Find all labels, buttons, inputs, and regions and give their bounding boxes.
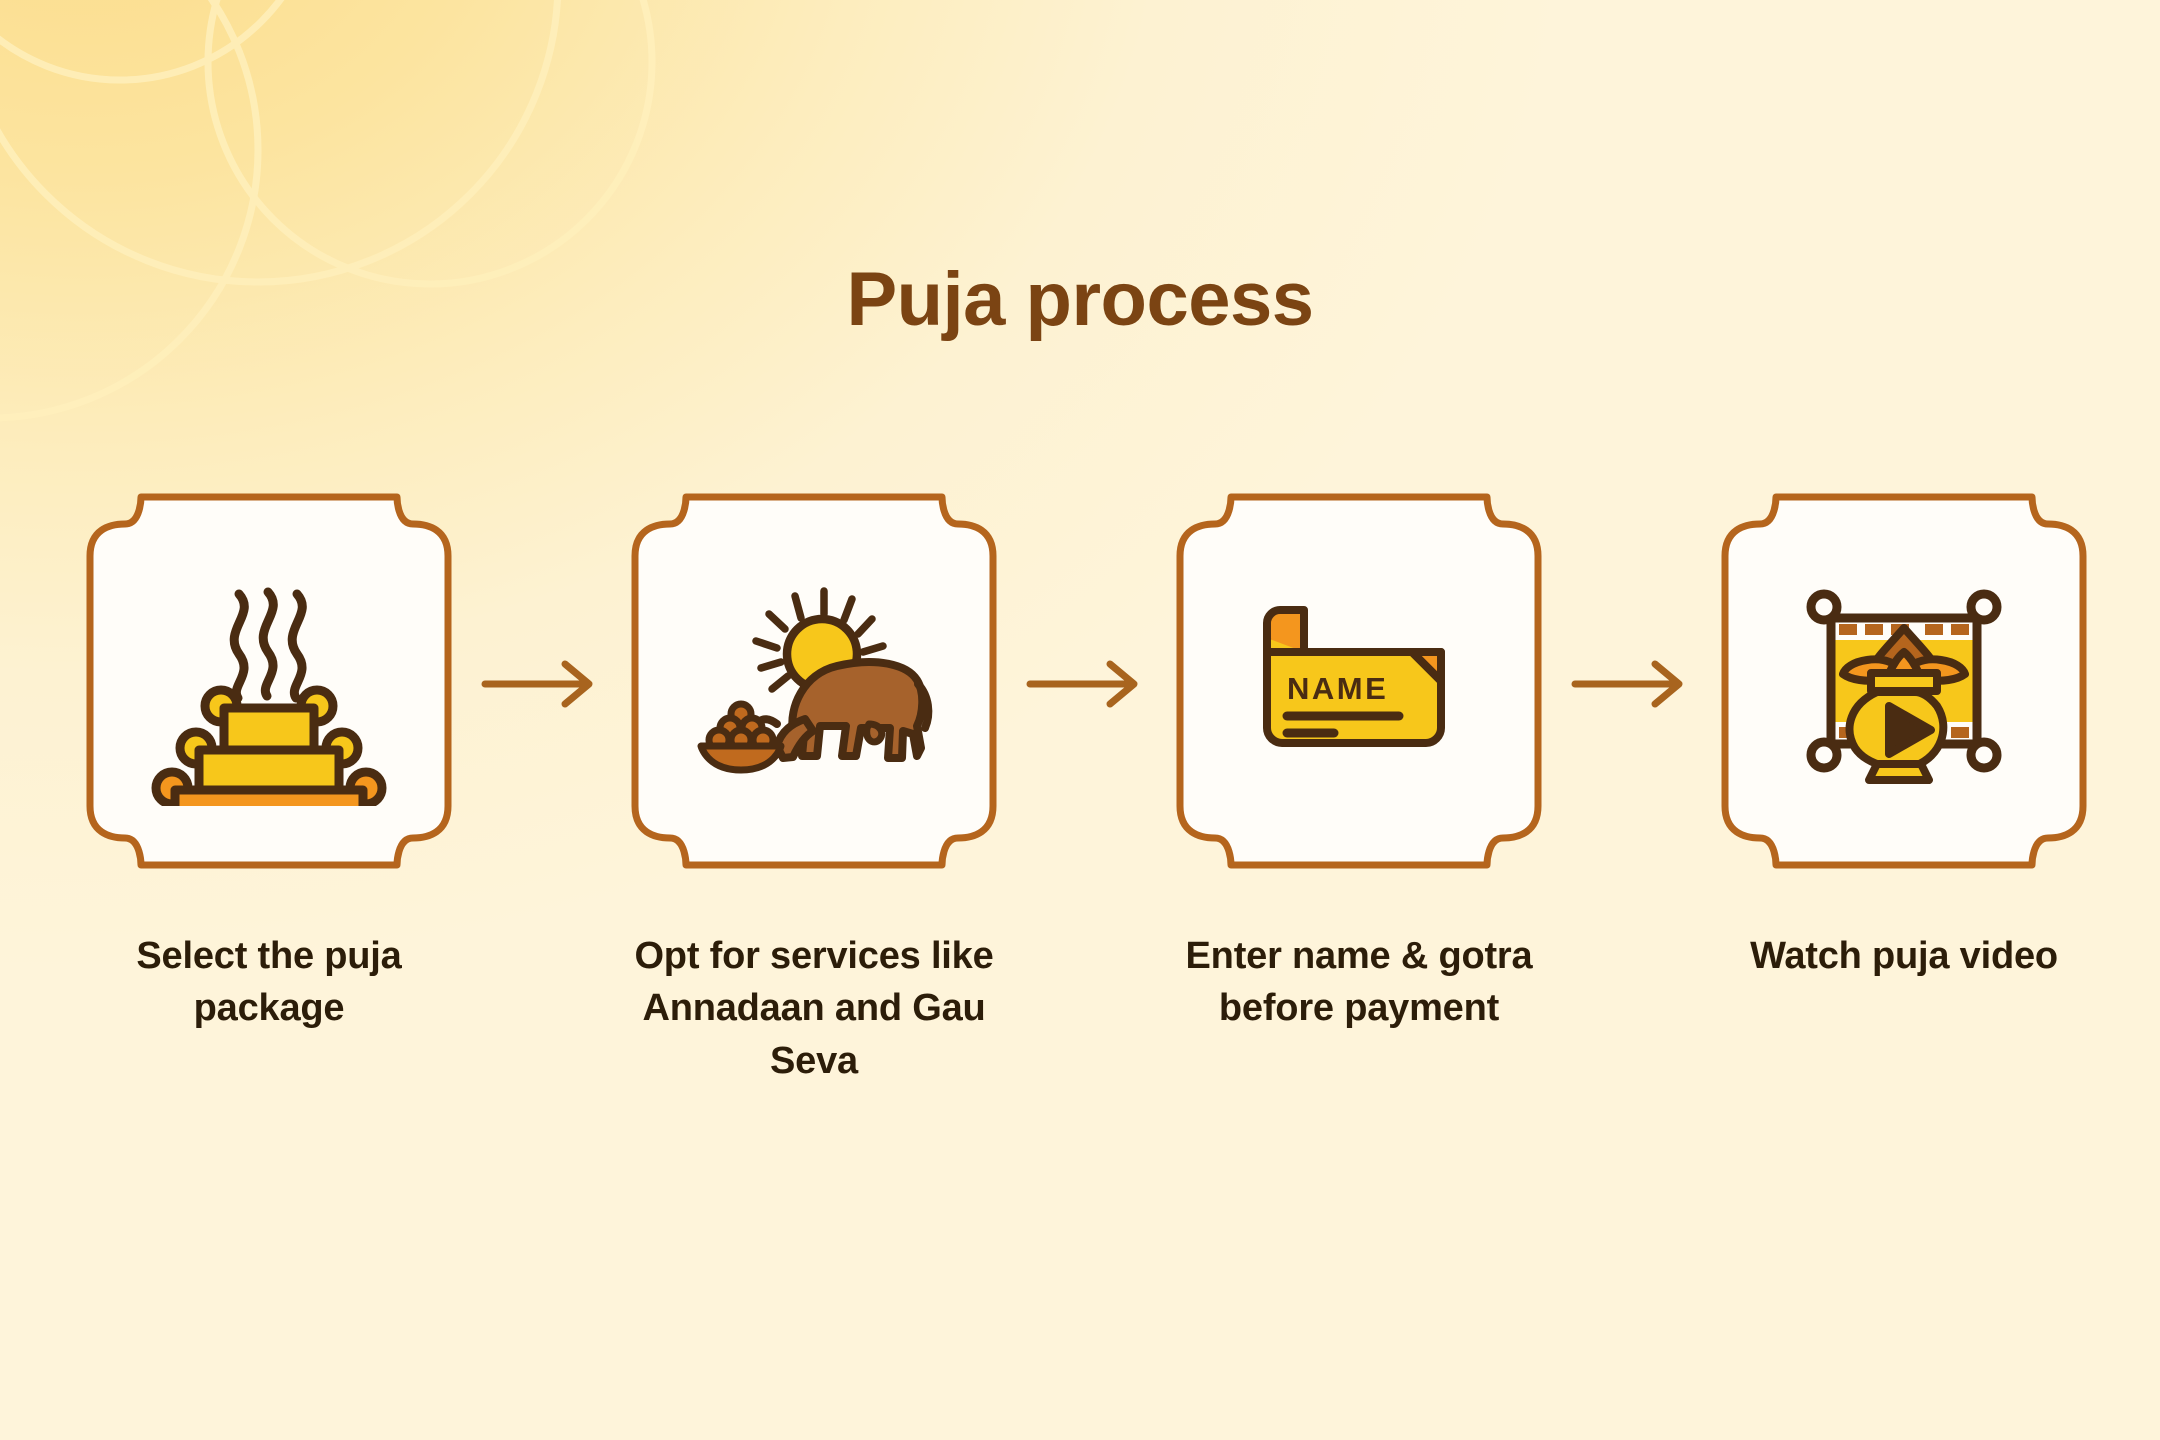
card-enter-name-gotra[interactable]: NAME <box>1173 490 1545 872</box>
step-caption-1: Select the puja package <box>83 930 455 1035</box>
page-title: Puja process <box>0 262 2160 338</box>
puja-process-infographic: Puja process <box>0 0 2160 1440</box>
step-card-3[interactable]: NAME <box>1173 490 1545 872</box>
step-caption-3: Enter name & gotra before payment <box>1173 930 1545 1035</box>
gau-seva-cow-icon <box>689 556 939 806</box>
card-gau-seva[interactable] <box>628 490 1000 872</box>
name-card-label: NAME <box>1287 671 1388 706</box>
arrow-step-2-to-3 <box>1026 658 1146 710</box>
step-caption-4: Watch puja video <box>1718 930 2090 982</box>
step-card-1[interactable] <box>83 490 455 872</box>
arrow-step-1-to-2 <box>481 658 601 710</box>
step-captions: Select the puja package Opt for services… <box>0 930 2160 1230</box>
name-card-icon: NAME <box>1234 556 1484 806</box>
process-flow: NAME <box>0 490 2160 890</box>
puja-altar-icon <box>144 556 394 806</box>
card-puja-package[interactable] <box>83 490 455 872</box>
step-caption-2: Opt for services like Annadaan and Gau S… <box>628 930 1000 1087</box>
puja-video-kalash-icon <box>1779 556 2029 806</box>
arrow-step-3-to-4 <box>1571 658 1691 710</box>
step-card-4[interactable] <box>1718 490 2090 872</box>
step-card-2[interactable] <box>628 490 1000 872</box>
card-watch-puja-video[interactable] <box>1718 490 2090 872</box>
